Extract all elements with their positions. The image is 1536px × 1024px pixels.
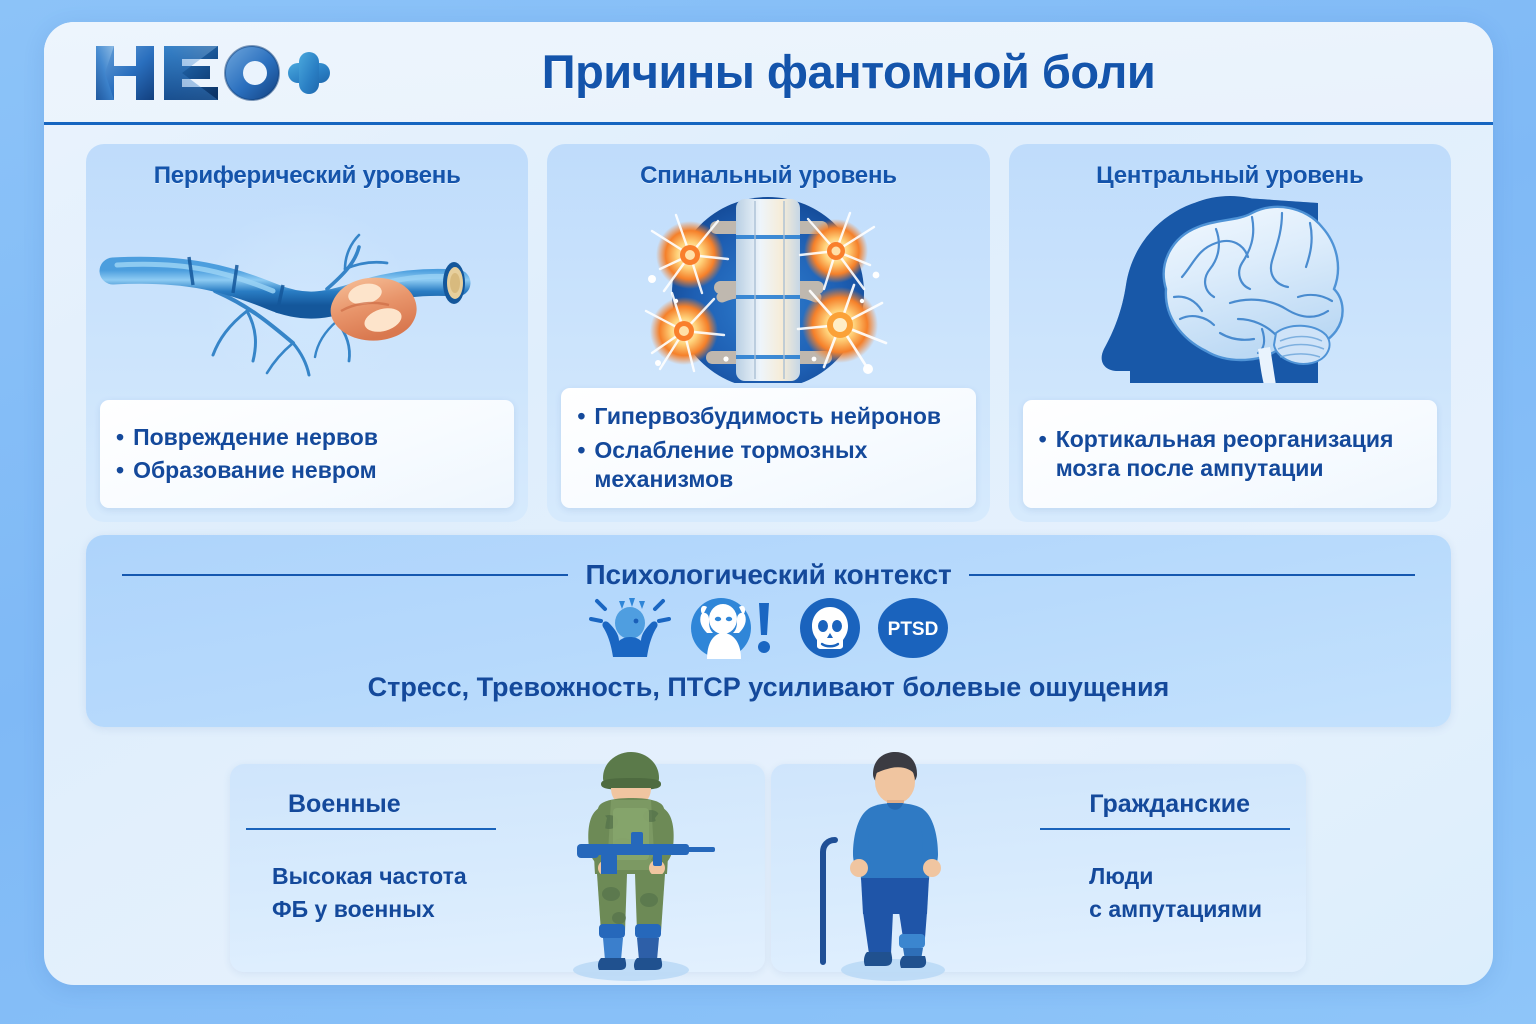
list-item: • Образование невром [116,456,498,485]
bullet-text: Ослабление тормозных механизмов [594,436,959,494]
level-card-spinal[interactable]: Спинальный уровень [547,144,989,522]
group-text-civilian: Люди с ампутациями [1089,860,1262,925]
level-title-peripheral: Периферический уровень [86,162,528,190]
divider-line-left [122,574,568,576]
group-divider-military [246,828,496,830]
bullet-dot-icon: • [577,402,585,431]
group-text-military: Высокая частота ФБ у военных [272,860,467,925]
group-card-civilian[interactable]: Гражданские Люди с ампутациями [771,764,1306,972]
level-bullets-peripheral: • Повреждение нервов • Образование невро… [100,400,514,508]
population-groups-row: Военные Высокая частота ФБ у военных [230,764,1306,972]
psychological-context-title: Психологический контекст [586,559,952,591]
psychological-context-caption: Стресс, Тревожность, ПТСР усиливают боле… [86,672,1451,703]
list-item: • Повреждение нервов [116,423,498,452]
psychological-context-panel: Психологический контекст [86,535,1451,727]
bullet-text: Образование невром [133,456,377,485]
civilian-figure-icon [801,748,981,985]
bullet-text: Повреждение нервов [133,423,378,452]
list-item: • Ослабление тормозных механизмов [577,436,959,494]
anxious-person-exclamation-icon [687,597,783,664]
level-card-peripheral[interactable]: Периферический уровень [86,144,528,522]
divider-line-right [969,574,1415,576]
list-item: • Кортикальная реорганизация мозга после… [1039,425,1421,483]
level-card-central[interactable]: Центральный уровень [1009,144,1451,522]
group-text-line: Люди [1089,860,1262,893]
list-item: • Гипервозбудимость нейронов [577,402,959,431]
soldier-figure-icon [531,748,731,985]
bullet-dot-icon: • [577,436,585,465]
group-title-military: Военные [288,790,401,819]
level-bullets-spinal: • Гипервозбудимость нейронов • Ослаблени… [561,388,975,508]
level-bullets-central: • Кортикальная реорганизация мозга после… [1023,400,1437,508]
bullet-dot-icon: • [116,423,124,452]
level-title-spinal: Спинальный уровень [547,162,989,190]
infographic-card: Причины фантомной боли Периферический ур… [44,22,1493,985]
page-title: Причины фантомной боли [44,44,1493,99]
group-text-line: Высокая частота [272,860,467,893]
level-title-central: Центральный уровень [1009,162,1451,190]
ptsd-badge-icon: PTSD [877,597,949,664]
spinal-neurons-icon [547,188,989,388]
psychological-context-header: Психологический контекст [122,559,1415,591]
bullet-dot-icon: • [116,456,124,485]
group-title-civilian: Гражданские [1089,790,1250,819]
header-divider [44,122,1493,125]
bullet-text: Гипервозбудимость нейронов [594,402,941,431]
ptsd-label: PTSD [887,619,938,640]
head-brain-icon [1009,188,1451,388]
group-divider-civilian [1040,828,1290,830]
group-text-line: с ампутациями [1089,893,1262,926]
levels-row: Периферический уровень [86,144,1451,522]
header-bar: Причины фантомной боли [44,22,1493,122]
skull-icon [799,597,861,664]
group-text-line: ФБ у военных [272,893,467,926]
psychological-icons-row: PTSD [86,597,1451,664]
stressed-person-icon [589,597,671,664]
bullet-text: Кортикальная реорганизация мозга после а… [1056,425,1421,483]
group-card-military[interactable]: Военные Высокая частота ФБ у военных [230,764,765,972]
damaged-nerve-neuroma-icon [86,188,528,388]
bullet-dot-icon: • [1039,425,1047,454]
